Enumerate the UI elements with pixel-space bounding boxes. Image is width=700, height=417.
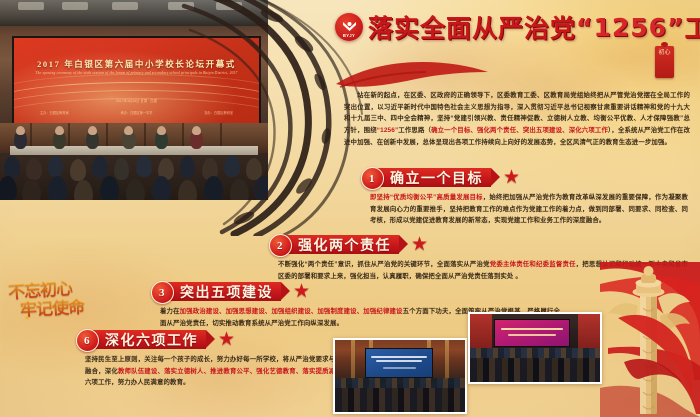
red-star-icon: ★ (293, 282, 310, 301)
body-highlight: “优质均衡公平”高质量发展目标 (390, 194, 483, 201)
main-conference-photo: 2017 年白银区第六届中小学校长论坛开幕式 The opening cerem… (0, 0, 268, 200)
section-goal: 1 确立一个目标 ★ 即坚持“优质均衡公平”高质量发展目标，始终把加强从严治党作… (370, 168, 690, 227)
body-pre: 即坚持 (370, 194, 390, 201)
screen-footer: 2017年3月28日 甘肃 · 白银 (14, 98, 259, 103)
section-ribbon: 6 深化六项工作 (85, 330, 206, 349)
section-title: 深化六项工作 (105, 330, 198, 350)
intro-number: “1256” (377, 127, 399, 134)
section-ribbon: 1 确立一个目标 (370, 168, 491, 187)
section-ribbon: 3 突出五项建设 (160, 282, 281, 301)
red-ink-stroke (330, 54, 490, 94)
projection-screen (365, 348, 433, 378)
title-quote-open: “ (576, 13, 593, 42)
body-highlight: 加强政治建设、加强思想建设、加强组织建设、加强制度建设、加强纪律建设 (180, 308, 403, 315)
status-badge: 初心 (655, 46, 674, 78)
byjy-circle-logo: BYJY (335, 13, 363, 41)
photo-inner (335, 340, 465, 412)
section-body: 即坚持“优质均衡公平”高质量发展目标，始终把加强从严治党作为教育改革纵深发展的重… (370, 192, 688, 227)
section-responsibilities: 2 强化两个责任 ★ 不断强化“两个责任”意识，抓住从严治党的关键环节，全面落实… (278, 235, 690, 282)
logo-glyph-icon (340, 20, 359, 34)
section-title: 突出五项建设 (180, 282, 273, 302)
section-number-badge: 2 (269, 234, 292, 257)
title-quote-close: ” (667, 13, 684, 42)
page-title: 落实全面从严治党“1256”工作思路 (368, 11, 700, 43)
section-title: 确立一个目标 (390, 168, 483, 188)
poster-root: 2017 年白银区第六届中小学校长论坛开幕式 The opening cerem… (0, 0, 700, 417)
section-number-badge: 6 (76, 329, 99, 352)
section-header: 3 突出五项建设 ★ (160, 282, 562, 301)
screen-subtitle: The opening ceremony of the sixth sessio… (14, 71, 259, 75)
gold-star-icon: ★ (24, 314, 30, 322)
section-number-badge: 3 (151, 281, 174, 304)
organizer-2: 承办：白银区第一中学 (121, 110, 153, 115)
organizer-1: 主办：白银区教育局 (40, 110, 69, 115)
photo-inner (470, 314, 600, 382)
section-header: 2 强化两个责任 ★ (278, 235, 690, 254)
section-title: 强化两个责任 (298, 235, 391, 255)
title-number: 1256 (593, 13, 667, 42)
logo-text: BYJY (335, 33, 363, 38)
body-pre: 不断强化“两个责任”意识，抓住从严治党的关键环节，全面落实从严治党 (278, 261, 490, 268)
conference-photo-1 (333, 338, 467, 414)
organizer-3: 协办：白银区教研室 (204, 110, 233, 115)
huabiao-column-icon (600, 262, 700, 417)
body-post: 六项工作，努力办人民满意的教育。 (85, 379, 190, 386)
intro-highlight: 确立一个目标、强化两个责任、突出五项建设、深化六项工作 (431, 127, 608, 134)
calligraphy-slogan: 不忘初心 牢记使命 ★ (6, 276, 90, 322)
section-number-badge: 1 (361, 167, 384, 190)
intro-quote: “党建引领兴教、责任精神促教、立德树人立教、均衡公平优教、人才保障强教” (450, 115, 683, 122)
body-highlight: 党委主体责任和纪委监督责任 (490, 261, 576, 268)
conference-photo-2 (468, 312, 602, 384)
section-ribbon: 2 强化两个责任 (278, 235, 399, 254)
intro-text-3: 工作思路（ (398, 127, 431, 134)
screen-organizers: 主办：白银区教育局 承办：白银区第一中学 协办：白银区教研室 (14, 110, 259, 115)
red-star-icon: ★ (503, 168, 520, 187)
stage-led-screen: 2017 年白银区第六届中小学校长论坛开幕式 The opening cerem… (12, 36, 261, 127)
ceiling (0, 0, 268, 26)
head-table (10, 146, 258, 155)
section-header: 1 确立一个目标 ★ (370, 168, 690, 187)
title-suffix: 工作思路 (684, 9, 700, 45)
red-star-icon: ★ (411, 235, 428, 254)
title-prefix: 落实全面从严治党 (368, 9, 576, 45)
projection-screen (494, 319, 570, 347)
red-star-icon: ★ (218, 330, 235, 349)
intro-paragraph: 站在新的起点，在区委、区政府的正确领导下，区委教育工委、区教育局党组始终把从严管… (344, 90, 690, 148)
body-pre: 着力在 (160, 308, 180, 315)
section-body: 不断强化“两个责任”意识，抓住从严治党的关键环节，全面落实从严治党党委主体责任和… (278, 259, 688, 282)
screen-title: 2017 年白银区第六届中小学校长论坛开幕式 (14, 58, 259, 70)
